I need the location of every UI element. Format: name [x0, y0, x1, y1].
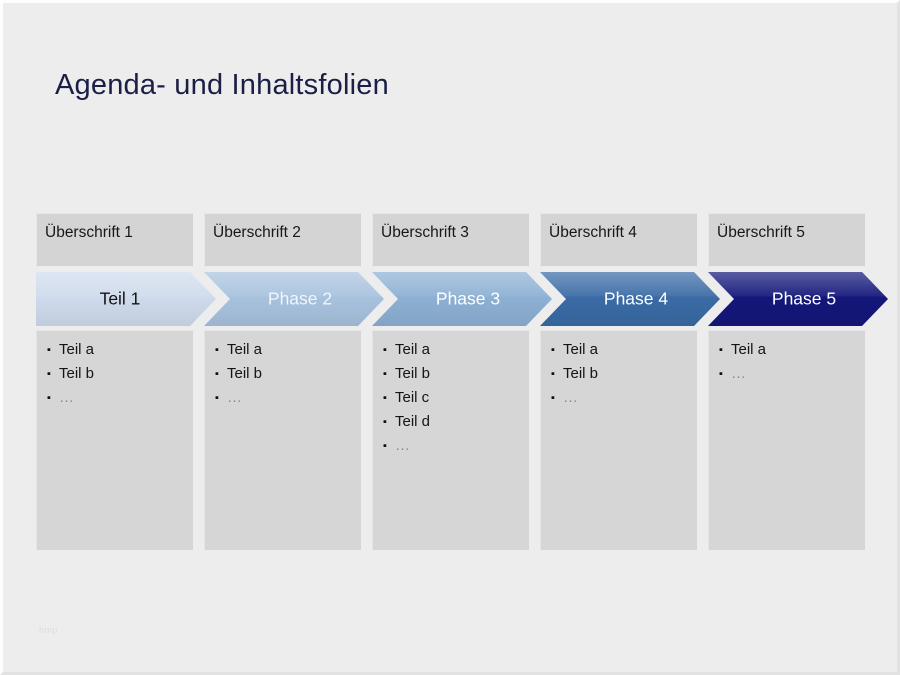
header-label-5: Überschrift 5 — [717, 224, 805, 242]
header-label-3: Überschrift 3 — [381, 224, 469, 242]
list-item-label: … — [59, 389, 75, 407]
header-box-3[interactable]: Überschrift 3 — [372, 213, 529, 266]
content-box-5[interactable]: ▪ Teil a ▪ … — [708, 330, 865, 550]
list-item: ▪ … — [47, 389, 187, 407]
list-item: ▪ Teil a — [215, 341, 355, 359]
list-item: ▪ … — [551, 389, 691, 407]
content-box-2[interactable]: ▪ Teil a ▪ Teil b ▪ … — [204, 330, 361, 550]
list-item-label: … — [227, 389, 243, 407]
chevron-segment-2[interactable]: Phase 2 — [204, 272, 384, 326]
list-item-label: Teil b — [59, 365, 94, 383]
list-item: ▪ … — [215, 389, 355, 407]
list-item-label: Teil c — [395, 389, 429, 407]
square-bullet-icon: ▪ — [719, 341, 731, 359]
content-box-3[interactable]: ▪ Teil a ▪ Teil b ▪ Teil c ▪ Teil d ▪ … — [372, 330, 529, 550]
header-box-5[interactable]: Überschrift 5 — [708, 213, 865, 266]
list-item: ▪ Teil b — [47, 365, 187, 383]
square-bullet-icon: ▪ — [215, 365, 227, 383]
list-item: ▪ Teil a — [383, 341, 523, 359]
content-box-4[interactable]: ▪ Teil a ▪ Teil b ▪ … — [540, 330, 697, 550]
square-bullet-icon: ▪ — [383, 389, 395, 407]
square-bullet-icon: ▪ — [719, 365, 731, 383]
chevron-label-2: Phase 2 — [268, 289, 332, 309]
header-box-4[interactable]: Überschrift 4 — [540, 213, 697, 266]
square-bullet-icon: ▪ — [215, 341, 227, 359]
list-item-label: … — [395, 437, 411, 455]
slide-canvas: Agenda- und Inhaltsfolien Überschrift 1 … — [0, 0, 900, 675]
list-item: ▪ Teil a — [551, 341, 691, 359]
square-bullet-icon: ▪ — [383, 365, 395, 383]
square-bullet-icon: ▪ — [551, 341, 563, 359]
square-bullet-icon: ▪ — [47, 341, 59, 359]
header-label-2: Überschrift 2 — [213, 224, 301, 242]
list-item-label: Teil d — [395, 413, 430, 431]
square-bullet-icon: ▪ — [215, 389, 227, 407]
header-label-1: Überschrift 1 — [45, 224, 133, 242]
list-item-label: … — [731, 365, 747, 383]
process-chevron-band: Phase 5 Phase 4 Phase 3 Phase 2 — [36, 272, 888, 326]
list-item-label: Teil a — [59, 341, 94, 359]
list-item: ▪ Teil b — [551, 365, 691, 383]
content-box-1[interactable]: ▪ Teil a ▪ Teil b ▪ … — [36, 330, 193, 550]
list-item-label: Teil b — [227, 365, 262, 383]
chevron-segment-3[interactable]: Phase 3 — [372, 272, 552, 326]
list-item: ▪ Teil c — [383, 389, 523, 407]
list-item-label: Teil a — [563, 341, 598, 359]
header-label-4: Überschrift 4 — [549, 224, 637, 242]
list-item-label: … — [563, 389, 579, 407]
chevron-label-1: Teil 1 — [100, 289, 141, 309]
square-bullet-icon: ▪ — [47, 389, 59, 407]
square-bullet-icon: ▪ — [551, 365, 563, 383]
list-item-label: Teil a — [227, 341, 262, 359]
page-title: Agenda- und Inhaltsfolien — [55, 69, 389, 102]
list-item-label: Teil a — [731, 341, 766, 359]
watermark: hmp — [39, 625, 65, 639]
square-bullet-icon: ▪ — [383, 437, 395, 455]
chevron-label-5: Phase 5 — [772, 289, 836, 309]
list-item: ▪ … — [719, 365, 859, 383]
square-bullet-icon: ▪ — [383, 341, 395, 359]
header-box-1[interactable]: Überschrift 1 — [36, 213, 193, 266]
list-item: ▪ Teil a — [47, 341, 187, 359]
list-item-label: Teil a — [395, 341, 430, 359]
list-item: ▪ Teil b — [215, 365, 355, 383]
list-item-label: Teil b — [395, 365, 430, 383]
chevron-segment-1[interactable]: Teil 1 — [36, 272, 216, 326]
list-item: ▪ Teil a — [719, 341, 859, 359]
header-box-2[interactable]: Überschrift 2 — [204, 213, 361, 266]
list-item: ▪ Teil d — [383, 413, 523, 431]
square-bullet-icon: ▪ — [551, 389, 563, 407]
chevron-segment-4[interactable]: Phase 4 — [540, 272, 720, 326]
chevron-label-3: Phase 3 — [436, 289, 500, 309]
chevron-label-4: Phase 4 — [604, 289, 668, 309]
square-bullet-icon: ▪ — [47, 365, 59, 383]
chevron-segment-5[interactable]: Phase 5 — [708, 272, 888, 326]
list-item: ▪ … — [383, 437, 523, 455]
square-bullet-icon: ▪ — [383, 413, 395, 431]
list-item: ▪ Teil b — [383, 365, 523, 383]
list-item-label: Teil b — [563, 365, 598, 383]
